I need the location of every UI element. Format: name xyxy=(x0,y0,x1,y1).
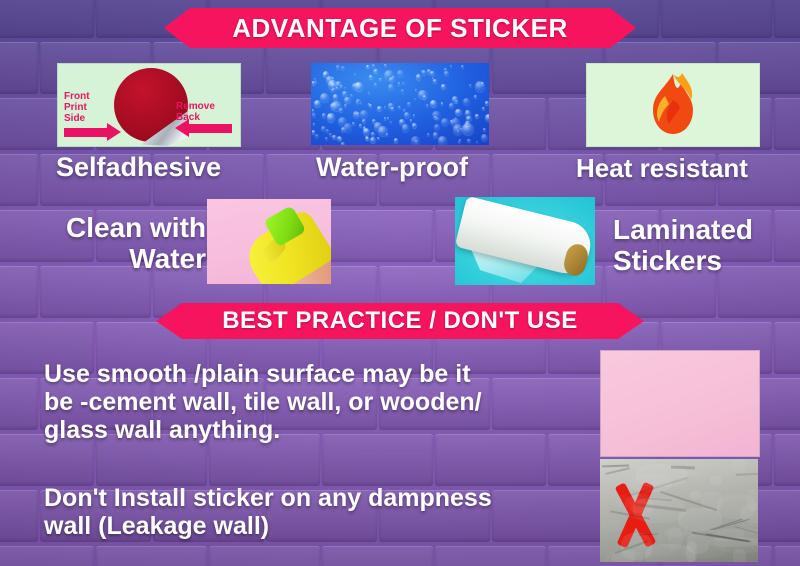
selfadhesive-image: Front Print Side Remove Back xyxy=(57,63,241,147)
best-practice-banner: BEST PRACTICE / DON'T USE xyxy=(156,303,644,339)
clean-with-water-image xyxy=(207,199,331,284)
advantage-banner: ADVANTAGE OF STICKER xyxy=(164,8,636,48)
best-practice-banner-title: BEST PRACTICE / DON'T USE xyxy=(222,307,578,335)
heat-resistant-image xyxy=(586,63,760,147)
dont-use-text: Don't Install sticker on any dampness wa… xyxy=(44,484,584,540)
water-droplets xyxy=(311,63,489,145)
heat-resistant-label: Heat resistant xyxy=(576,154,748,183)
waterproof-image xyxy=(311,63,489,145)
infographic-poster: ADVANTAGE OF STICKER Front Print Side Re… xyxy=(0,0,800,566)
front-arrow-icon xyxy=(64,128,108,137)
damp-wall-image xyxy=(600,459,758,562)
flame-icon xyxy=(587,64,759,146)
back-arrow-icon xyxy=(188,124,232,133)
advantage-banner-title: ADVANTAGE OF STICKER xyxy=(232,13,567,44)
clean-with-water-label: Clean with Water xyxy=(56,212,206,275)
laminated-stickers-label: Laminated Stickers xyxy=(613,214,753,277)
selfadhesive-label: Selfadhesive xyxy=(56,152,221,182)
waterproof-label: Water-proof xyxy=(316,152,468,182)
smooth-surface-image xyxy=(600,350,760,457)
laminated-stickers-image xyxy=(455,197,595,285)
best-practice-text: Use smooth /plain surface may be it be -… xyxy=(44,360,584,444)
front-print-side-label: Front Print Side xyxy=(64,92,90,124)
